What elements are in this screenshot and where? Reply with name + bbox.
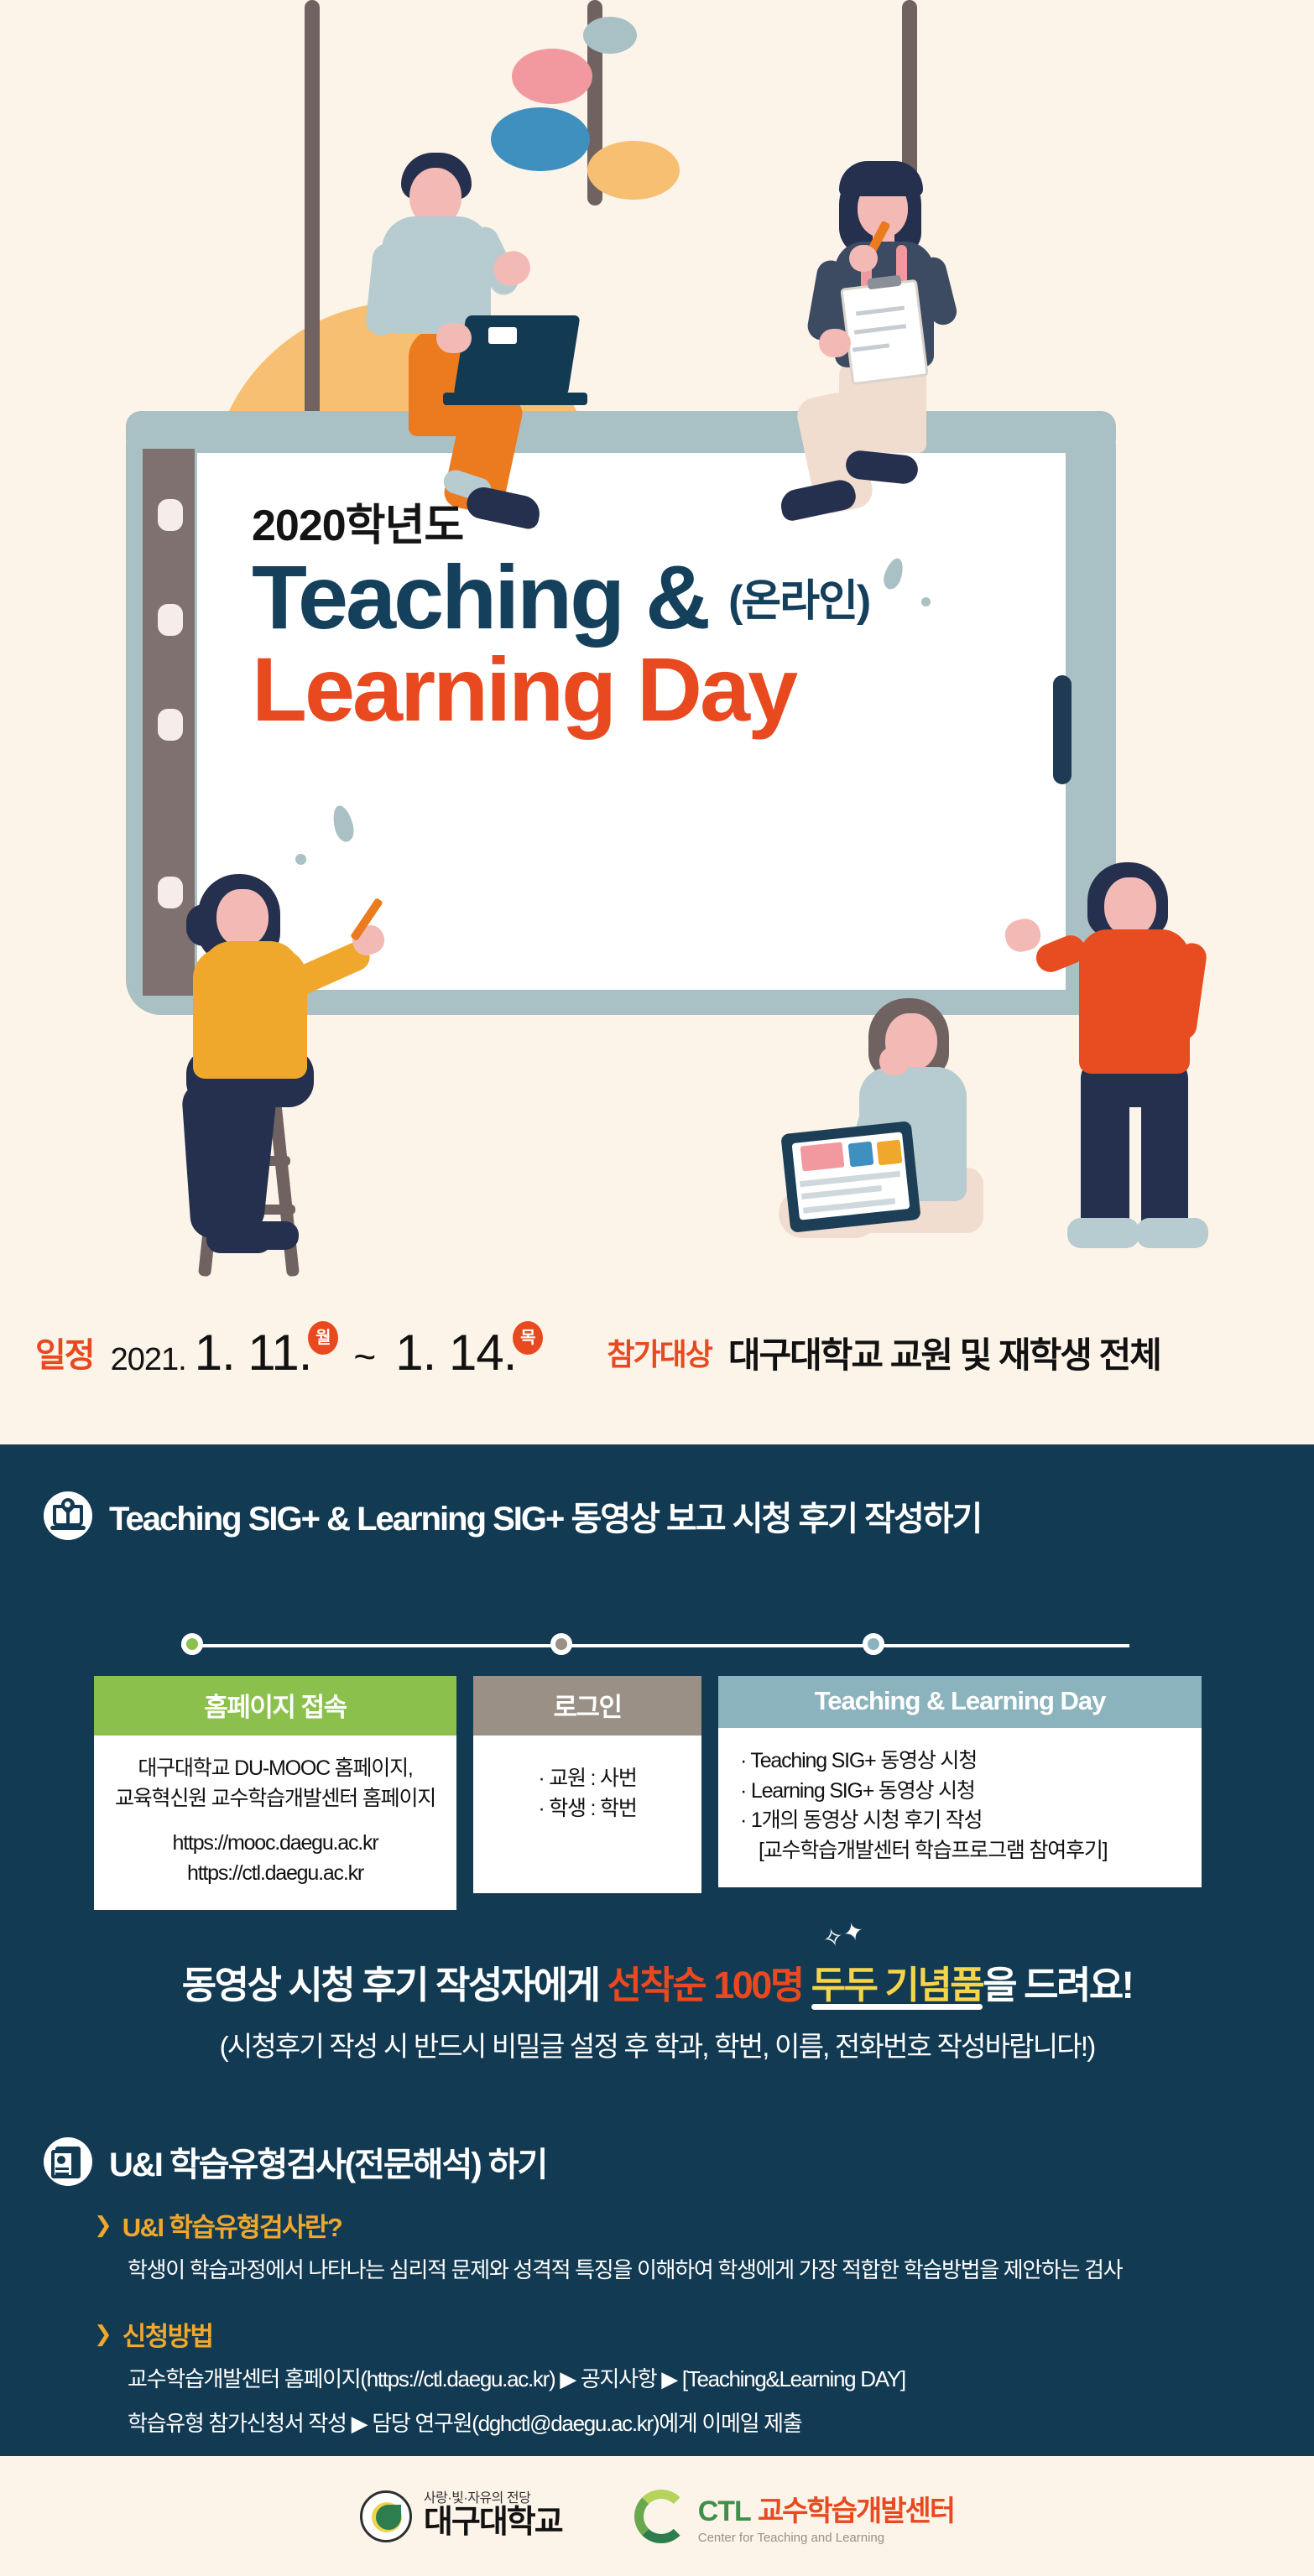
- step-card-tldday: Teaching & Learning Day · Teaching SIG+ …: [718, 1676, 1202, 1887]
- step-3-header: Teaching & Learning Day: [718, 1676, 1202, 1728]
- book-pin-icon: [44, 1491, 92, 1540]
- gift-highlight-banner: 동영상 시청 후기 작성자에게 선착순 100명 두두 기념품을 드려요! (시…: [0, 1954, 1314, 2064]
- hero-illustration: 2020학년도 Teaching & (온라인) Learning Day: [0, 0, 1314, 1468]
- ctl-ring-icon: [634, 2490, 688, 2543]
- step-1-header: 홈페이지 접속: [94, 1676, 456, 1736]
- step-3-line-4: [교수학습개발센터 학습프로그램 참여후기]: [740, 1836, 1186, 1866]
- device-right-notch: [1053, 675, 1072, 784]
- schedule-end-day-badge: 목: [513, 1321, 543, 1355]
- gift-highlight-note: (시청후기 작성 시 반드시 비밀글 설정 후 학과, 학번, 이름, 전화번호…: [0, 2024, 1314, 2064]
- ctl-abbreviation: CTL: [698, 2495, 751, 2528]
- chat-bubble-pink-icon: [512, 49, 592, 104]
- title-line-2: Learning Day: [252, 643, 1007, 736]
- university-name: 대구대학교: [424, 2505, 562, 2540]
- device-lens-4-icon: [158, 877, 183, 908]
- ui-item-1-label: U&I 학습유형검사란?: [123, 2206, 342, 2244]
- step-3-body: · Teaching SIG+ 동영상 시청 · Learning SIG+ 동…: [718, 1728, 1202, 1887]
- ui-item-1-heading: ❯ U&I 학습유형검사란?: [94, 2206, 1314, 2244]
- ui-item-2-line-1: 교수학습개발센터 홈페이지(https://ctl.daegu.ac.kr) ▶…: [128, 2363, 1314, 2396]
- step-2-body: · 교원 : 사번 · 학생 : 학번: [473, 1736, 701, 1893]
- university-seal-icon: [360, 2490, 412, 2542]
- document-card-icon: [44, 2137, 92, 2186]
- timeline-dot-1: [181, 1633, 203, 1655]
- section-1-title: Teaching SIG+ & Learning SIG+ 동영상 보고 시청 …: [109, 1491, 981, 1540]
- ctl-name-korean: 교수학습개발센터: [758, 2488, 954, 2529]
- section-2-title: U&I 학습유형검사(전문해석) 하기: [109, 2137, 546, 2186]
- section-1: Teaching SIG+ & Learning SIG+ 동영상 보고 시청 …: [0, 1444, 1314, 1540]
- device-lens-2-icon: [158, 604, 183, 636]
- step-3-line-3: · 1개의 동영상 시청 후기 작성: [740, 1806, 1186, 1836]
- poster-title-block: 2020학년도 Teaching & (온라인) Learning Day: [252, 503, 1007, 736]
- ctl-name-english: Center for Teaching and Learning: [698, 2531, 954, 2545]
- device-top-shelf: [126, 411, 1116, 441]
- step-1-body: 대구대학교 DU-MOOC 홈페이지, 교육혁신원 교수학습개발센터 홈페이지 …: [94, 1736, 456, 1910]
- ctl-logo: CTL 교수학습개발센터 Center for Teaching and Lea…: [634, 2488, 954, 2545]
- schedule-end-date: 1. 14.: [395, 1324, 516, 1382]
- schedule-value: 2021. 1. 11. 월 ~ 1. 14. 목: [94, 1324, 547, 1382]
- timeline-dot-3: [863, 1633, 884, 1655]
- gift-text-quota: 선착순 100명: [607, 1964, 811, 2006]
- audience-value: 대구대학교 교원 및 재학생 전체: [728, 1327, 1160, 1378]
- timeline-dot-2: [550, 1633, 572, 1655]
- step-card-login: 로그인 · 교원 : 사번 · 학생 : 학번: [473, 1676, 701, 1893]
- ui-item-1-text: 학생이 학습과정에서 나타나는 심리적 문제와 성격적 특징을 이해하여 학생에…: [128, 2254, 1314, 2287]
- online-tag: (온라인): [728, 565, 869, 643]
- schedule-start-date: 1. 11.: [195, 1324, 312, 1382]
- ui-item-2-label: 신청방법: [123, 2315, 213, 2353]
- footer-logos: 사랑·빛·자유의 전당 대구대학교 CTL 교수학습개발센터 Center fo…: [0, 2456, 1314, 2576]
- step-2-header: 로그인: [473, 1676, 701, 1736]
- chat-bubble-blue-icon: [491, 107, 590, 171]
- device-lens-1-icon: [158, 499, 183, 531]
- device-lens-3-icon: [158, 709, 183, 741]
- timeline-line: [181, 1644, 1129, 1647]
- section-2-header: U&I 학습유형검사(전문해석) 하기: [44, 2137, 1314, 2186]
- step-2-line-2: · 학생 : 학번: [488, 1794, 686, 1824]
- step-1-line-1: 대구대학교 DU-MOOC 홈페이지,: [109, 1754, 441, 1784]
- audience-label: 참가대상: [607, 1330, 711, 1374]
- gift-highlight-text: 동영상 시청 후기 작성자에게 선착순 100명 두두 기념품을 드려요!: [0, 1954, 1314, 2009]
- schedule-range-tilde: ~: [353, 1334, 375, 1379]
- step-card-homepage: 홈페이지 접속 대구대학교 DU-MOOC 홈페이지, 교육혁신원 교수학습개발…: [94, 1676, 456, 1910]
- chevron-right-icon: ❯: [94, 2212, 112, 2238]
- chat-bubble-yellow-icon: [587, 141, 680, 200]
- hanging-rod-left: [305, 0, 320, 470]
- gift-text-item: 두두 기념품: [811, 1964, 983, 2006]
- steps-container: 홈페이지 접속 대구대학교 DU-MOOC 홈페이지, 교육혁신원 교수학습개발…: [94, 1676, 1220, 1910]
- schedule-year: 2021.: [111, 1342, 186, 1378]
- step-3-line-2: · Learning SIG+ 동영상 시청: [740, 1777, 1186, 1807]
- ui-item-2-line-2: 학습유형 참가신청서 작성 ▶ 담당 연구원(dghctl@daegu.ac.k…: [128, 2407, 1314, 2440]
- schedule-start-day-badge: 월: [308, 1321, 338, 1355]
- schedule-audience-strip: 일정 2021. 1. 11. 월 ~ 1. 14. 목 참가대상 대구대학교 …: [0, 1302, 1314, 1402]
- title-line-1: Teaching &: [252, 551, 708, 643]
- step-1-url-1[interactable]: https://mooc.daegu.ac.kr: [109, 1829, 441, 1859]
- poster-root: 2020학년도 Teaching & (온라인) Learning Day 일정…: [0, 0, 1314, 2576]
- chat-bubble-gray-icon: [583, 17, 637, 54]
- section-2: U&I 학습유형검사(전문해석) 하기 ❯ U&I 학습유형검사란? 학생이 학…: [0, 2137, 1314, 2440]
- chevron-right-icon-2: ❯: [94, 2321, 112, 2347]
- gift-text-part-2: 을 드려요!: [983, 1964, 1132, 2006]
- academic-year-label: 2020학년도: [252, 503, 1007, 549]
- step-2-line-1: · 교원 : 사번: [488, 1764, 686, 1794]
- sparkle-4-icon: [295, 854, 306, 865]
- daegu-university-logo: 사랑·빛·자유의 전당 대구대학교: [360, 2490, 562, 2542]
- step-1-line-2: 교육혁신원 교수학습개발센터 홈페이지: [109, 1784, 441, 1814]
- university-tagline: 사랑·빛·자유의 전당: [424, 2491, 530, 2506]
- schedule-label: 일정: [35, 1328, 94, 1376]
- step-3-line-1: · Teaching SIG+ 동영상 시청: [740, 1746, 1186, 1777]
- step-1-url-2[interactable]: https://ctl.daegu.ac.kr: [109, 1859, 441, 1889]
- gift-text-part-1: 동영상 시청 후기 작성자에게: [182, 1964, 607, 2006]
- ui-item-2-heading: ❯ 신청방법: [94, 2315, 1314, 2353]
- section-1-header: Teaching SIG+ & Learning SIG+ 동영상 보고 시청 …: [44, 1491, 1314, 1540]
